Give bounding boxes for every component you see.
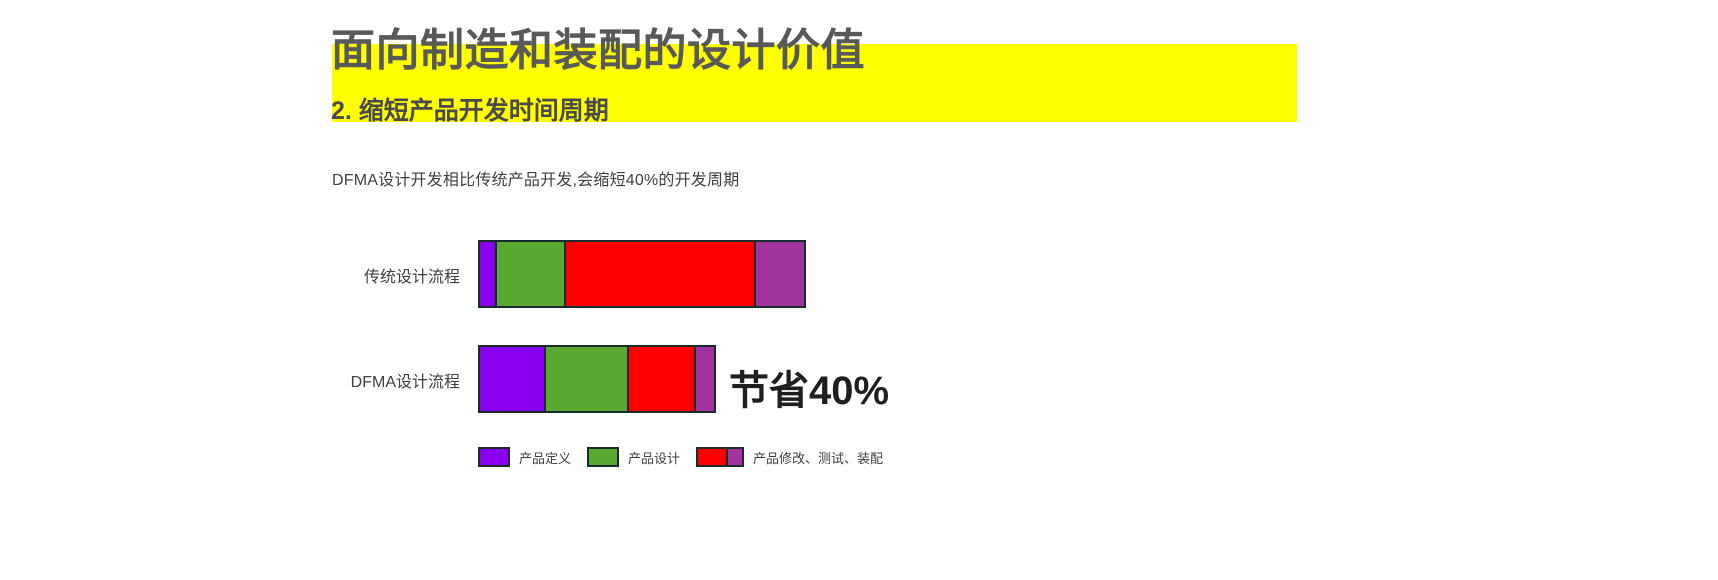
bar-segment bbox=[627, 345, 696, 413]
legend-item: 产品定义 bbox=[478, 446, 571, 468]
legend-item: 产品设计 bbox=[587, 446, 680, 468]
legend-label: 产品定义 bbox=[519, 448, 571, 467]
legend-swatch bbox=[587, 447, 619, 467]
bar-segment bbox=[754, 240, 806, 308]
bar-category-label: 传统设计流程 bbox=[364, 263, 460, 287]
legend-swatch-group bbox=[587, 447, 619, 467]
bar-segment bbox=[564, 240, 756, 308]
legend-swatch-group bbox=[696, 447, 744, 467]
bar-category-label: DFMA设计流程 bbox=[351, 368, 460, 392]
bar-track bbox=[478, 240, 806, 308]
legend-label: 产品设计 bbox=[628, 448, 680, 467]
savings-annotation: 节省40% bbox=[729, 358, 889, 416]
legend-swatch-group bbox=[478, 447, 510, 467]
legend-swatch bbox=[696, 447, 728, 467]
legend-swatch bbox=[478, 447, 510, 467]
bar-label-container: 传统设计流程 bbox=[300, 240, 460, 310]
legend-item: 产品修改、测试、装配 bbox=[696, 446, 883, 468]
legend-label: 产品修改、测试、装配 bbox=[753, 448, 883, 467]
bar-segment bbox=[694, 345, 716, 413]
slide-canvas: 面向制造和装配的设计价值 2. 缩短产品开发时间周期 DFMA设计开发相比传统产… bbox=[0, 0, 1718, 580]
chart-bar-row: 传统设计流程 bbox=[0, 240, 1718, 308]
stacked-bar-chart: 传统设计流程 DFMA设计流程 节省40% 产品定义产品设计产品修改、测试、装配 bbox=[0, 0, 1718, 580]
bar-track bbox=[478, 345, 716, 413]
bar-label-container: DFMA设计流程 bbox=[300, 345, 460, 415]
chart-legend: 产品定义产品设计产品修改、测试、装配 bbox=[478, 446, 899, 468]
bar-segment bbox=[495, 240, 566, 308]
bar-segment bbox=[544, 345, 629, 413]
legend-swatch bbox=[726, 447, 744, 467]
bar-segment bbox=[478, 345, 546, 413]
